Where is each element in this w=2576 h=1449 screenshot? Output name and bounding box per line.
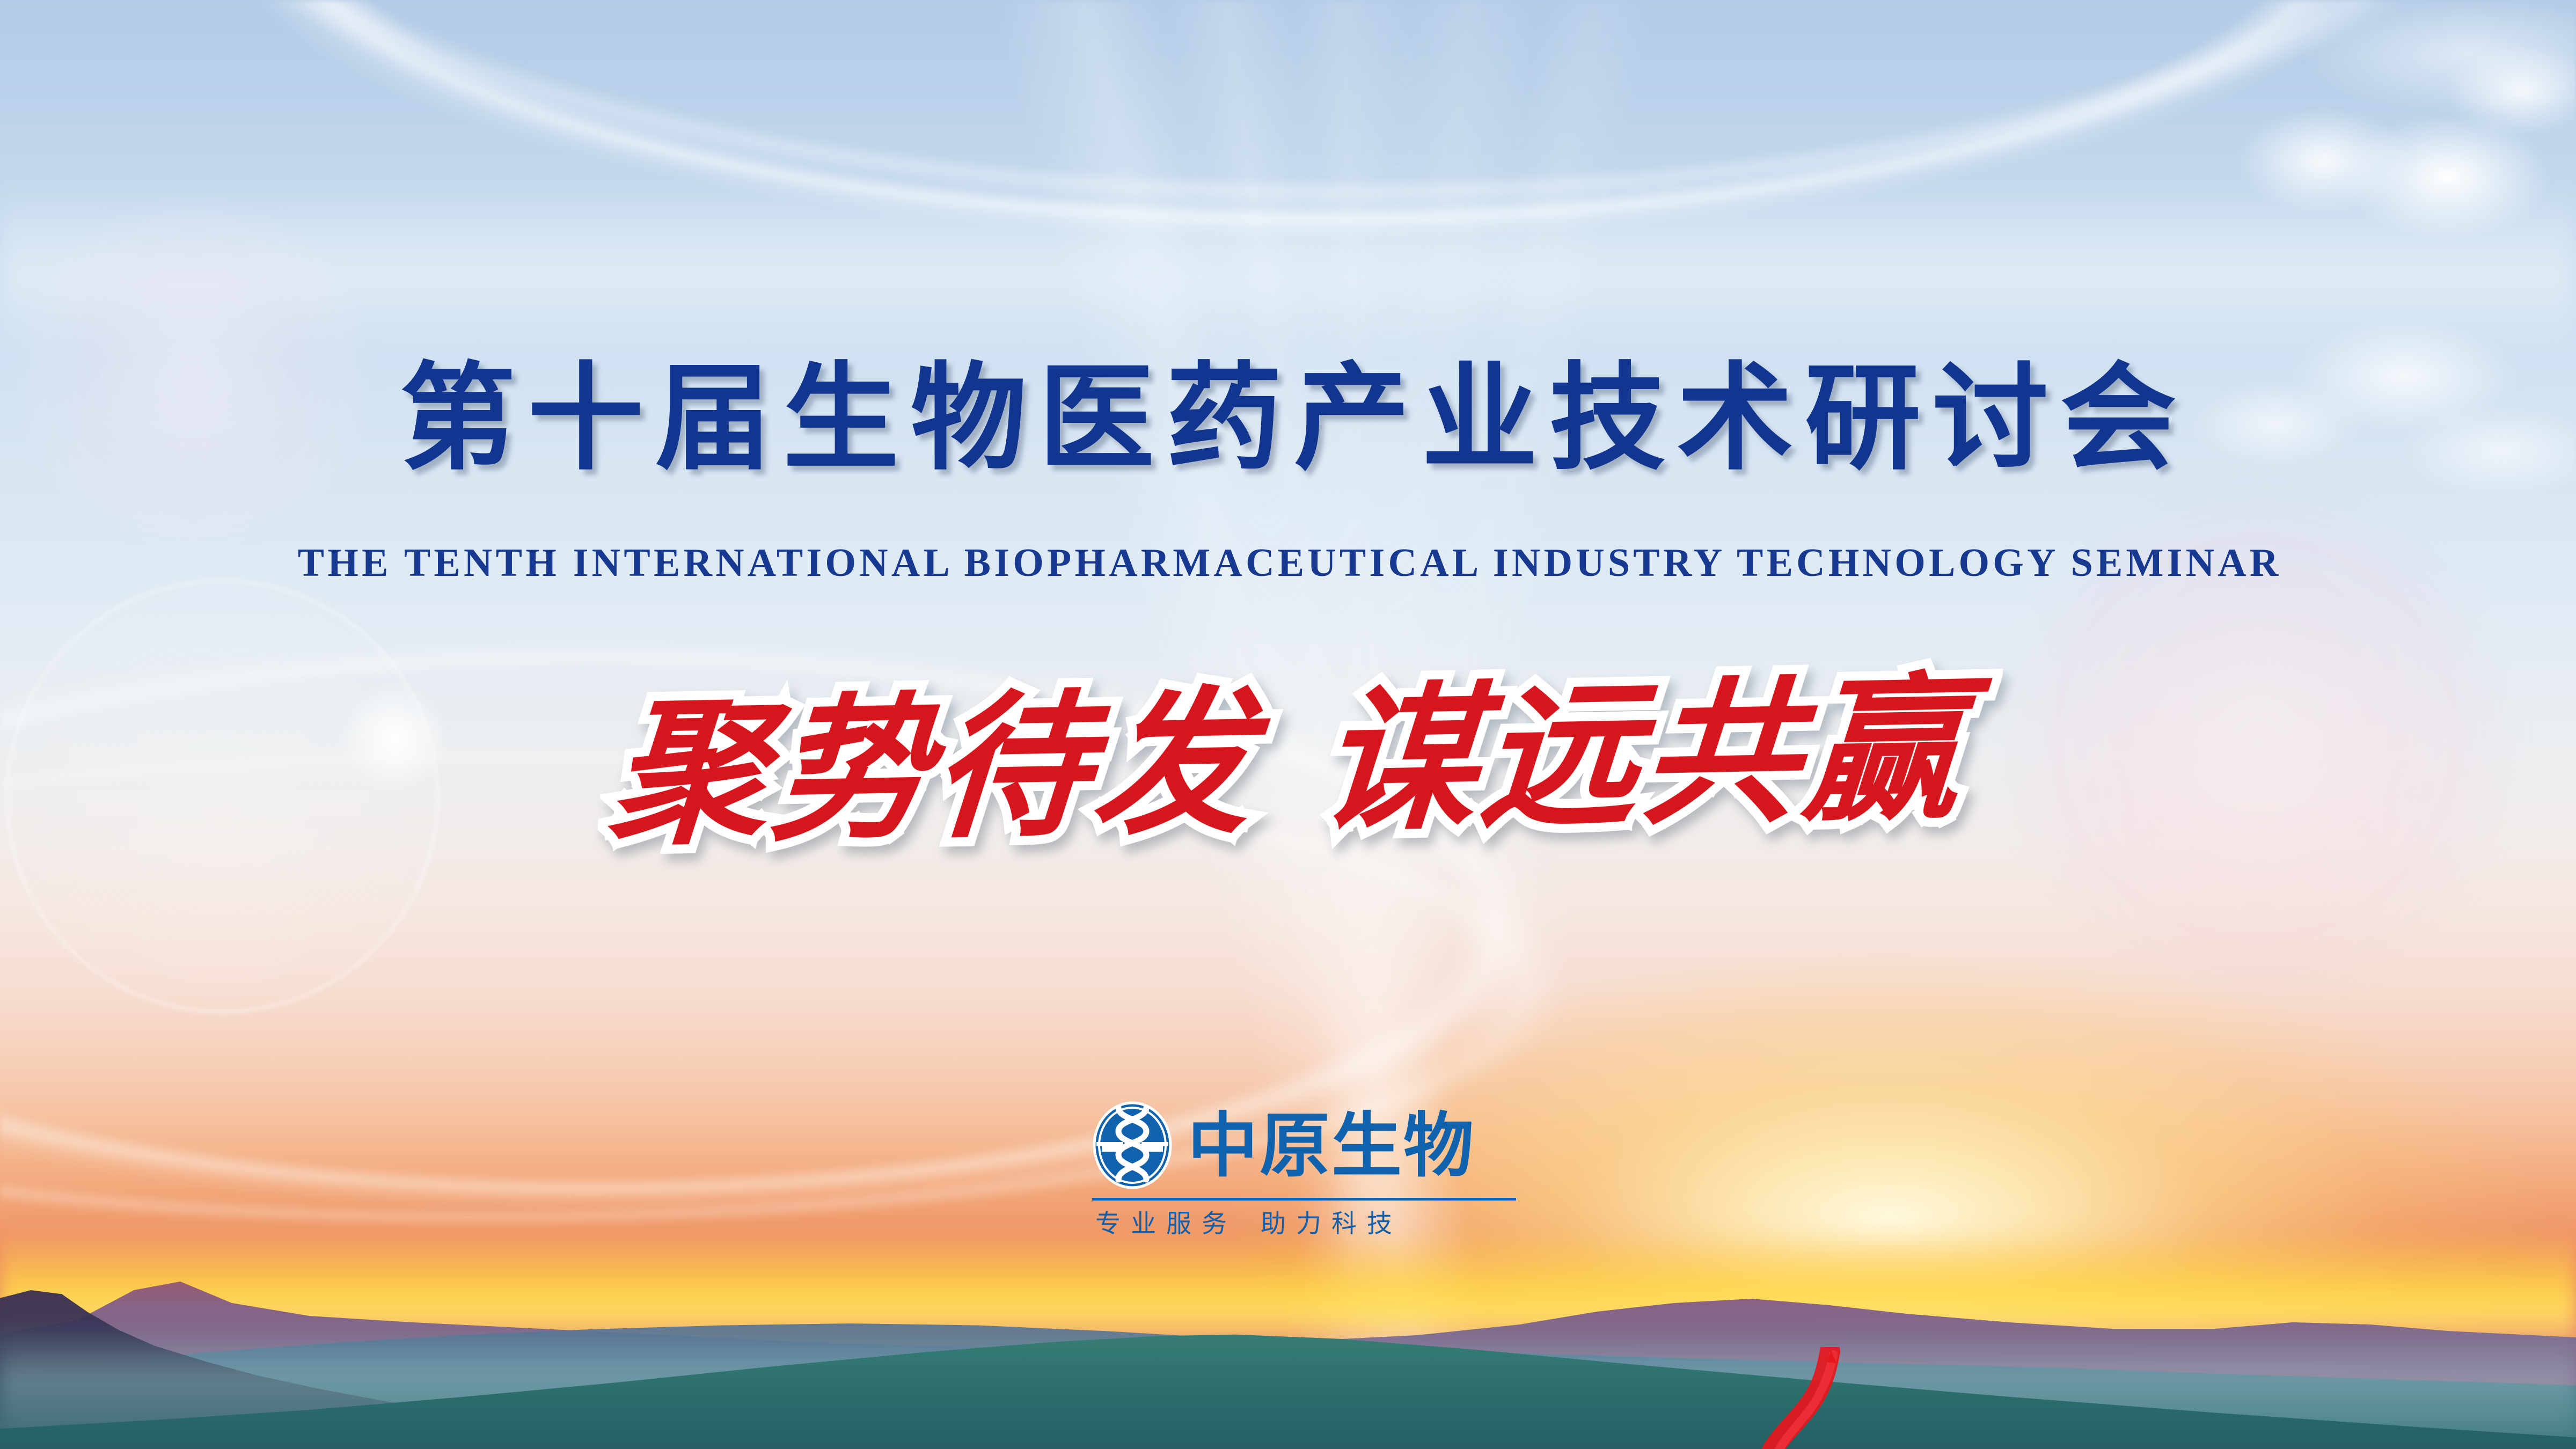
slogan-first-phrase: 聚势待发 [604, 670, 1262, 866]
tagline-first: 专业服务 [1095, 1209, 1237, 1239]
logo-company-name: 中原生物 [1188, 1110, 1475, 1181]
dna-helix-logo-icon [1092, 1101, 1173, 1189]
conference-poster: 第十届生物医药产业技术研讨会 THE TENTH INTERNATIONAL B… [0, 0, 2576, 1449]
page-subtitle: THE TENTH INTERNATIONAL BIOPHARMACEUTICA… [0, 543, 2576, 583]
calligraphy-slogan: 聚势待发谋远共赢 [0, 655, 2576, 869]
tagline-second: 助力科技 [1261, 1209, 1402, 1239]
slogan-second-phrase: 谋远共赢 [1314, 656, 1971, 853]
page-title: 第十届生物医药产业技术研讨会 [0, 361, 2576, 477]
logo-tagline: 专业服务助力科技 [1092, 1211, 1516, 1236]
red-ribbon-flourish [1696, 1347, 1921, 1449]
slogan-block: 聚势待发谋远共赢 [0, 672, 2576, 1005]
logo-divider [1092, 1198, 1516, 1201]
company-logo: 中原生物 专业服务助力科技 [1092, 1101, 1516, 1236]
slogan-spacer [1252, 816, 1316, 817]
